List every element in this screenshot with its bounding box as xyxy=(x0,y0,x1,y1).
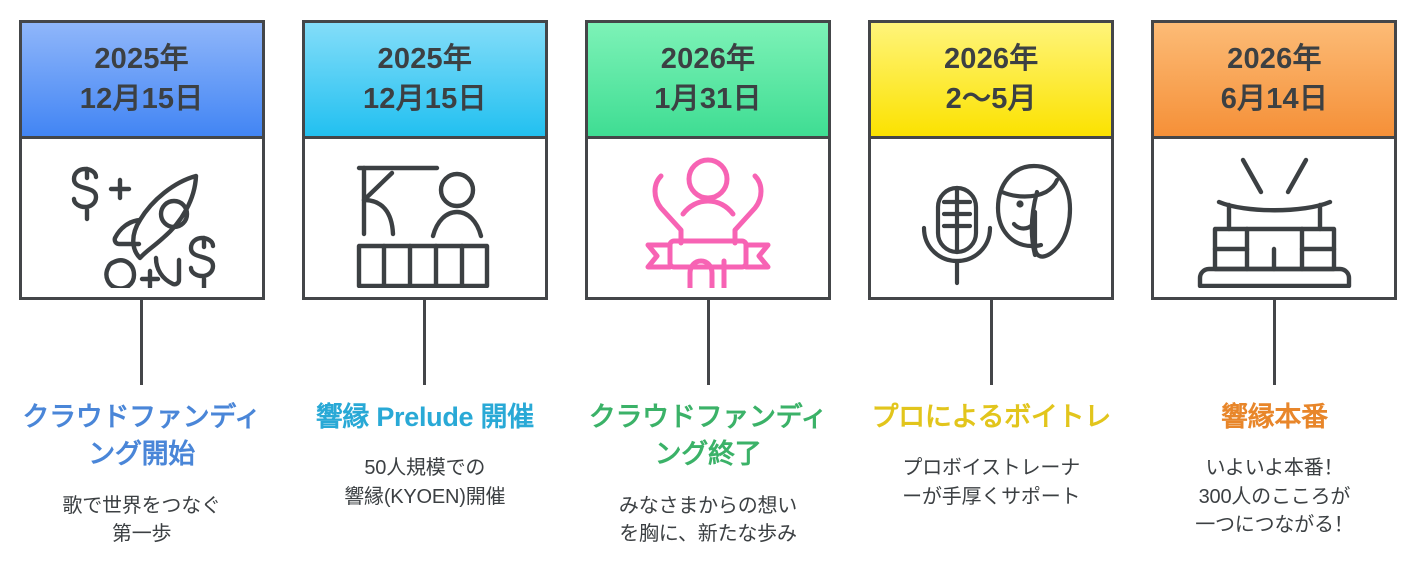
milestone-date-5: 2026年 6月14日 xyxy=(1154,23,1394,139)
desc-line: を胸に、新たな歩み xyxy=(582,520,834,548)
milestone-date-1: 2025年 12月15日 xyxy=(22,23,262,139)
milestone-desc-4: プロボイストレーナ ーが手厚くサポート xyxy=(865,454,1117,511)
milestone-date-2: 2025年 12月15日 xyxy=(305,23,545,139)
desc-line: いよいよ本番！ xyxy=(1148,454,1400,482)
milestone-connector-2 xyxy=(423,300,426,385)
milestone-card-5: 2026年 6月14日 xyxy=(1151,20,1397,300)
milestone-title-2: 響縁 Prelude 開催 xyxy=(300,399,550,436)
desc-line: 歌で世界をつなぐ xyxy=(16,492,268,520)
milestone-connector-5 xyxy=(1273,300,1276,385)
milestone-title-1: クラウドファンディング開始 xyxy=(17,399,267,474)
milestone-connector-3 xyxy=(707,300,710,385)
milestone-date-3: 2026年 1月31日 xyxy=(588,23,828,139)
milestone-3: 2026年 1月31日 xyxy=(566,0,849,581)
timeline-infographic: 2025年 12月15日 xyxy=(0,0,1416,581)
date-day: 1月31日 xyxy=(654,80,761,119)
milestone-2: 2025年 12月15日 xyxy=(283,0,566,581)
milestone-card-4: 2026年 2〜5月 xyxy=(868,20,1114,300)
milestone-4: 2026年 2〜5月 xyxy=(850,0,1133,581)
desc-line: 第一歩 xyxy=(16,520,268,548)
milestone-icon-wrap-3 xyxy=(588,139,828,297)
milestone-title-3: クラウドファンディング終了 xyxy=(583,399,833,474)
milestone-card-2: 2025年 12月15日 xyxy=(302,20,548,300)
rocket-money-icon xyxy=(54,148,229,288)
milestone-card-3: 2026年 1月31日 xyxy=(585,20,831,300)
desc-line: 50人規模での xyxy=(299,454,551,482)
milestone-title-4: プロによるボイトレ xyxy=(866,399,1116,436)
presentation-seminar-icon xyxy=(337,148,512,288)
desc-line: プロボイストレーナ xyxy=(865,454,1117,482)
milestone-connector-4 xyxy=(990,300,993,385)
date-year: 2026年 xyxy=(944,40,1039,79)
desc-line: 響縁(KYOEN)開催 xyxy=(299,483,551,511)
singer-microphone-icon xyxy=(904,148,1079,288)
milestone-desc-5: いよいよ本番！ 300人のこころが 一つにつながる！ xyxy=(1148,454,1400,539)
milestone-connector-1 xyxy=(140,300,143,385)
milestone-desc-1: 歌で世界をつなぐ 第一歩 xyxy=(16,492,268,549)
milestone-5: 2026年 6月14日 xyxy=(1133,0,1416,581)
date-day: 2〜5月 xyxy=(946,80,1037,119)
date-day: 6月14日 xyxy=(1221,80,1328,119)
milestone-card-1: 2025年 12月15日 xyxy=(19,20,265,300)
milestone-icon-wrap-1 xyxy=(22,139,262,297)
desc-line: 300人のこころが xyxy=(1148,483,1400,511)
date-day: 12月15日 xyxy=(80,80,204,119)
milestone-1: 2025年 12月15日 xyxy=(0,0,283,581)
milestone-desc-2: 50人規模での 響縁(KYOEN)開催 xyxy=(299,454,551,511)
date-year: 2025年 xyxy=(94,40,189,79)
desc-line: ーが手厚くサポート xyxy=(865,483,1117,511)
milestone-desc-3: みなさまからの想い を胸に、新たな歩み xyxy=(582,492,834,549)
milestone-icon-wrap-5 xyxy=(1154,139,1394,297)
milestone-icon-wrap-2 xyxy=(305,139,545,297)
milestone-title-5: 響縁本番 xyxy=(1149,399,1399,436)
date-year: 2026年 xyxy=(1227,40,1322,79)
goal-finish-person-icon xyxy=(621,148,796,288)
desc-line: みなさまからの想い xyxy=(582,492,834,520)
date-year: 2025年 xyxy=(378,40,473,79)
taiko-drum-icon xyxy=(1187,148,1362,288)
milestone-date-4: 2026年 2〜5月 xyxy=(871,23,1111,139)
desc-line: 一つにつながる！ xyxy=(1148,511,1400,539)
date-year: 2026年 xyxy=(661,40,756,79)
milestone-icon-wrap-4 xyxy=(871,139,1111,297)
date-day: 12月15日 xyxy=(363,80,487,119)
